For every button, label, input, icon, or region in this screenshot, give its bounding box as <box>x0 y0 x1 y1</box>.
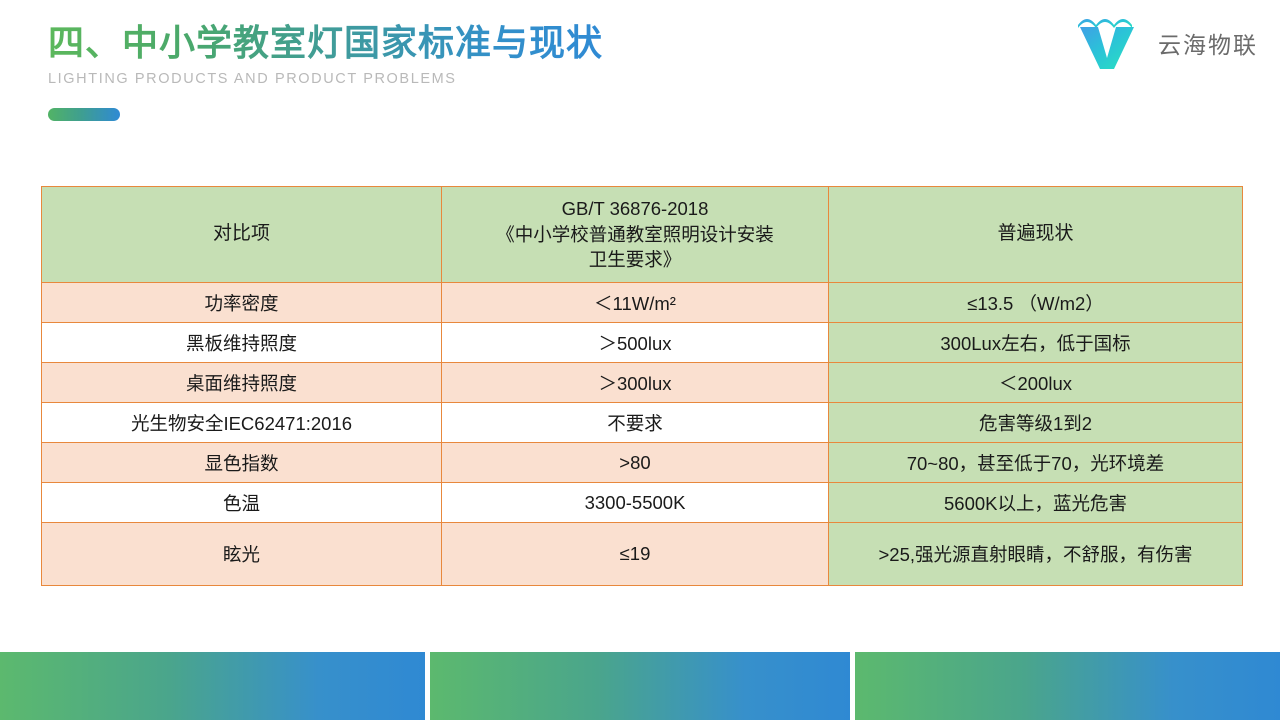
table-row: 色温 3300-5500K 5600K以上，蓝光危害 <box>42 483 1243 523</box>
cell-status: ≤13.5 （W/m2） <box>829 283 1243 323</box>
table-header-row: 对比项 GB/T 36876-2018 《中小学校普通教室照明设计安装 卫生要求… <box>42 187 1243 283</box>
cell-item: 光生物安全IEC62471:2016 <box>42 403 442 443</box>
cell-standard: 不要求 <box>442 403 829 443</box>
footer-bar-2 <box>430 652 850 720</box>
cell-standard: ＞500lux <box>442 323 829 363</box>
column-header-status: 普遍现状 <box>829 187 1243 283</box>
cell-standard: ≤19 <box>442 523 829 586</box>
cell-standard: ＞300lux <box>442 363 829 403</box>
footer-bar-3 <box>855 652 1280 720</box>
cell-standard: >80 <box>442 443 829 483</box>
cell-item: 桌面维持照度 <box>42 363 442 403</box>
page-subtitle: LIGHTING PRODUCTS AND PRODUCT PROBLEMS <box>48 71 603 87</box>
standard-line-1: GB/T 36876-2018 <box>562 198 709 219</box>
footer-decoration <box>0 652 1280 720</box>
column-header-item: 对比项 <box>42 187 442 283</box>
title-block: 四、中小学教室灯国家标准与现状 LIGHTING PRODUCTS AND PR… <box>48 20 603 87</box>
yunhai-v-wave-logo-icon <box>1074 16 1148 70</box>
cell-standard: ＜11W/m² <box>442 283 829 323</box>
standard-line-3: 卫生要求》 <box>589 249 682 270</box>
page-title: 四、中小学教室灯国家标准与现状 <box>48 20 603 65</box>
cell-item: 色温 <box>42 483 442 523</box>
table-row: 光生物安全IEC62471:2016 不要求 危害等级1到2 <box>42 403 1243 443</box>
title-accent-bar <box>48 108 120 121</box>
cell-item: 显色指数 <box>42 443 442 483</box>
slide-root: 四、中小学教室灯国家标准与现状 LIGHTING PRODUCTS AND PR… <box>0 0 1280 720</box>
cell-status: 5600K以上，蓝光危害 <box>829 483 1243 523</box>
table-row: 黑板维持照度 ＞500lux 300Lux左右，低于国标 <box>42 323 1243 363</box>
column-header-standard: GB/T 36876-2018 《中小学校普通教室照明设计安装 卫生要求》 <box>442 187 829 283</box>
table-body: 功率密度 ＜11W/m² ≤13.5 （W/m2） 黑板维持照度 ＞500lux… <box>42 283 1243 586</box>
brand-logo: 云海物联 <box>1074 16 1258 70</box>
cell-item: 功率密度 <box>42 283 442 323</box>
cell-status: 300Lux左右，低于国标 <box>829 323 1243 363</box>
cell-status: 危害等级1到2 <box>829 403 1243 443</box>
table-row: 显色指数 >80 70~80，甚至低于70，光环境差 <box>42 443 1243 483</box>
cell-status: 70~80，甚至低于70，光环境差 <box>829 443 1243 483</box>
standard-line-2: 《中小学校普通教室照明设计安装 <box>496 224 774 245</box>
brand-name: 云海物联 <box>1158 26 1258 60</box>
cell-item: 眩光 <box>42 523 442 586</box>
cell-standard: 3300-5500K <box>442 483 829 523</box>
cell-status: >25,强光源直射眼睛，不舒服，有伤害 <box>829 523 1243 586</box>
table-head: 对比项 GB/T 36876-2018 《中小学校普通教室照明设计安装 卫生要求… <box>42 187 1243 283</box>
footer-bar-1 <box>0 652 425 720</box>
comparison-table: 对比项 GB/T 36876-2018 《中小学校普通教室照明设计安装 卫生要求… <box>41 186 1243 586</box>
cell-status: ＜200lux <box>829 363 1243 403</box>
table-row: 眩光 ≤19 >25,强光源直射眼睛，不舒服，有伤害 <box>42 523 1243 586</box>
cell-item: 黑板维持照度 <box>42 323 442 363</box>
table-row: 功率密度 ＜11W/m² ≤13.5 （W/m2） <box>42 283 1243 323</box>
table-row: 桌面维持照度 ＞300lux ＜200lux <box>42 363 1243 403</box>
